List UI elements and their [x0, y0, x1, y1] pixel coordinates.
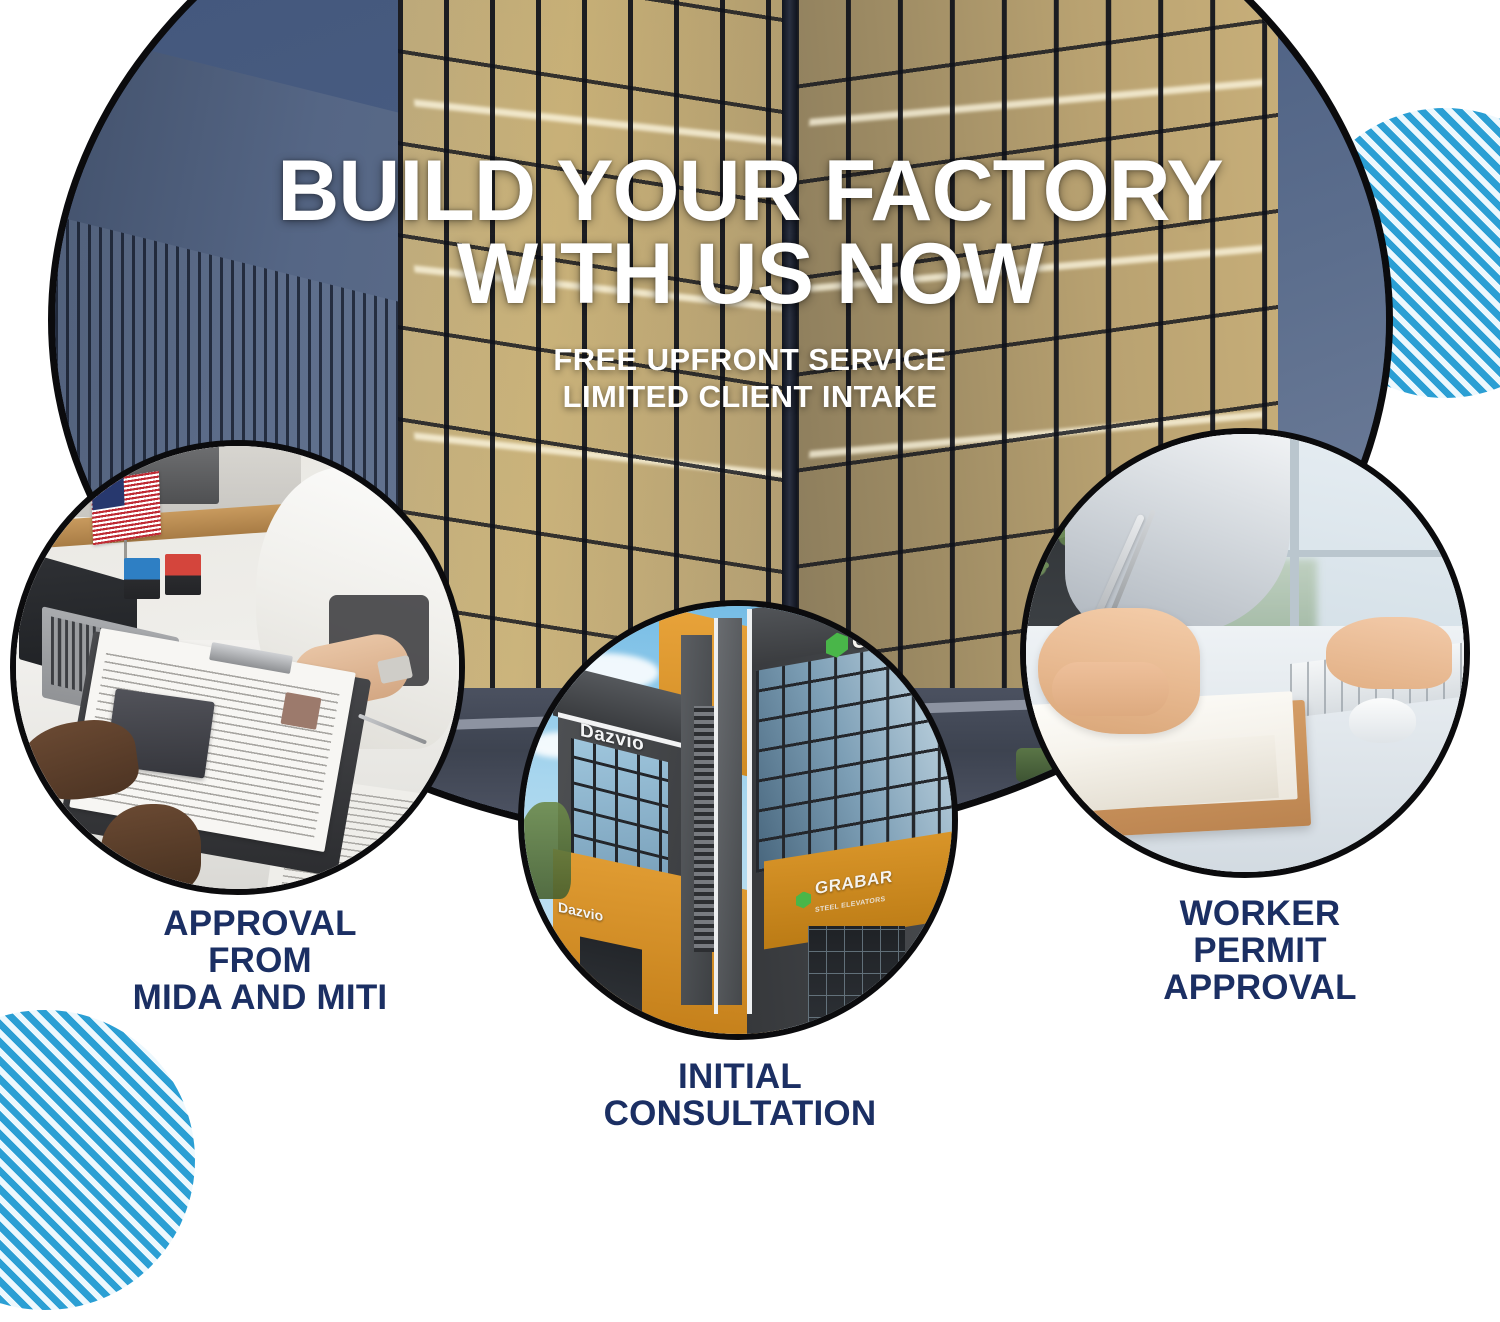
signage-grabar-top-label: GR [852, 625, 886, 653]
tree-canopy-left [518, 802, 571, 899]
grabar-hex-logo-icon [796, 891, 811, 910]
caption-initial-consultation: INITIAL CONSULTATION [530, 1058, 950, 1132]
red-stamp-icon [165, 554, 201, 595]
writing-fingers [1052, 662, 1169, 716]
step-photo-approval-mida-miti [10, 440, 465, 895]
right-entrance-door [808, 926, 905, 1040]
caption-approval-mida-miti: APPROVAL FROM MIDA AND MITI [45, 905, 475, 1016]
step-photo-initial-consultation: Dazvio Dazvio GR GRABAR STEEL ELEVATORS [518, 600, 958, 1040]
blue-stamp-icon [124, 558, 160, 599]
mouse-icon [1349, 698, 1417, 743]
white-accent-line-2 [747, 609, 752, 1014]
us-flag-canton [91, 474, 124, 511]
commercial-building-render-photo: Dazvio Dazvio GR GRABAR STEEL ELEVATORS [518, 600, 958, 1040]
step-photo-worker-permit-approval [1020, 428, 1470, 878]
poster-canvas: BUILD YOUR FACTORY WITH US NOW FREE UPFR… [0, 0, 1500, 1322]
writing-notebook-photo [1020, 428, 1470, 878]
caption-worker-permit-approval: WORKER PERMIT APPROVAL [1045, 895, 1475, 1006]
vertical-fin-2 [716, 618, 742, 1005]
immigration-desk-photo [10, 440, 465, 895]
form-id-photo [281, 692, 322, 730]
grabar-hex-logo-icon [826, 630, 848, 659]
hand-on-keyboard [1326, 617, 1452, 689]
left-entrance-door [580, 937, 642, 1040]
striped-circle-bottom-left-icon [0, 1010, 195, 1310]
applicant-hand-right [101, 804, 201, 895]
white-accent-line-1 [714, 618, 718, 1014]
